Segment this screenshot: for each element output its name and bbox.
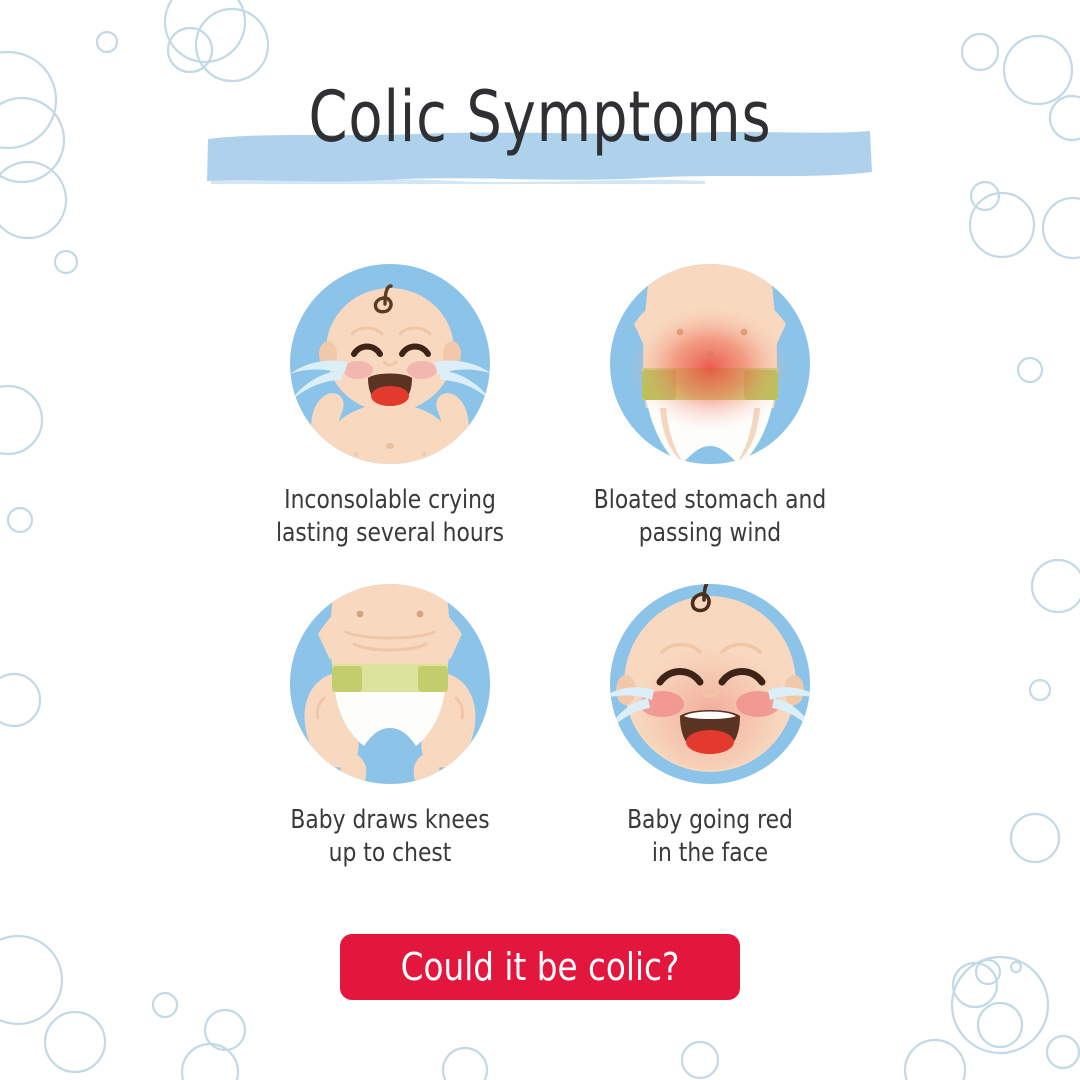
knees-to-chest-icon [284,578,496,790]
symptom-card-inconsolable-crying[interactable]: Inconsolable crying lasting several hour… [230,258,550,550]
crying-baby-icon [284,258,496,470]
red-faced-baby-icon [604,578,816,790]
cta-label: Could it be colic? [401,947,680,987]
infographic-poster: Colic Symptoms [0,0,1080,1080]
symptom-caption: Baby going red in the face [576,804,845,870]
symptom-card-red-face[interactable]: Baby going red in the face [550,578,870,870]
page-title: Colic Symptoms [108,74,972,160]
symptom-card-bloated-stomach[interactable]: Bloated stomach and passing wind [550,258,870,550]
symptom-caption: Bloated stomach and passing wind [576,484,845,550]
page-title-group: Colic Symptoms [0,74,1080,194]
bloated-stomach-icon [604,258,816,470]
symptom-card-knees-to-chest[interactable]: Baby draws knees up to chest [230,578,550,870]
symptoms-grid: Inconsolable crying lasting several hour… [230,258,870,898]
symptom-caption: Baby draws knees up to chest [256,804,525,870]
symptom-caption: Inconsolable crying lasting several hour… [256,484,525,550]
could-it-be-colic-button[interactable]: Could it be colic? [340,934,740,1000]
